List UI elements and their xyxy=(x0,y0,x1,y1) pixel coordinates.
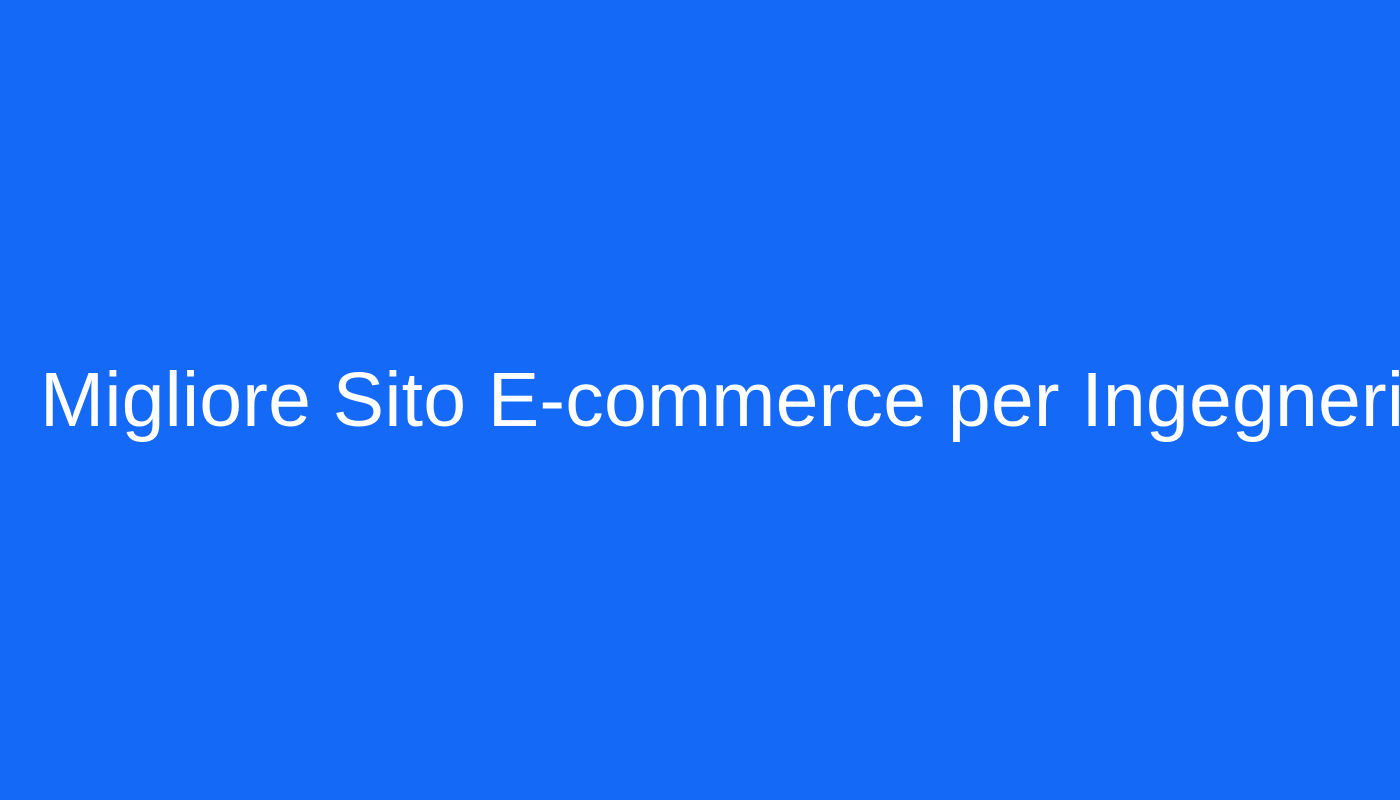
hero-banner: Migliore Sito E-commerce per Ingegneria xyxy=(0,0,1400,800)
hero-banner-content: Migliore Sito E-commerce per Ingegneria xyxy=(0,355,1400,446)
page-title: Migliore Sito E-commerce per Ingegneria xyxy=(40,355,1360,446)
